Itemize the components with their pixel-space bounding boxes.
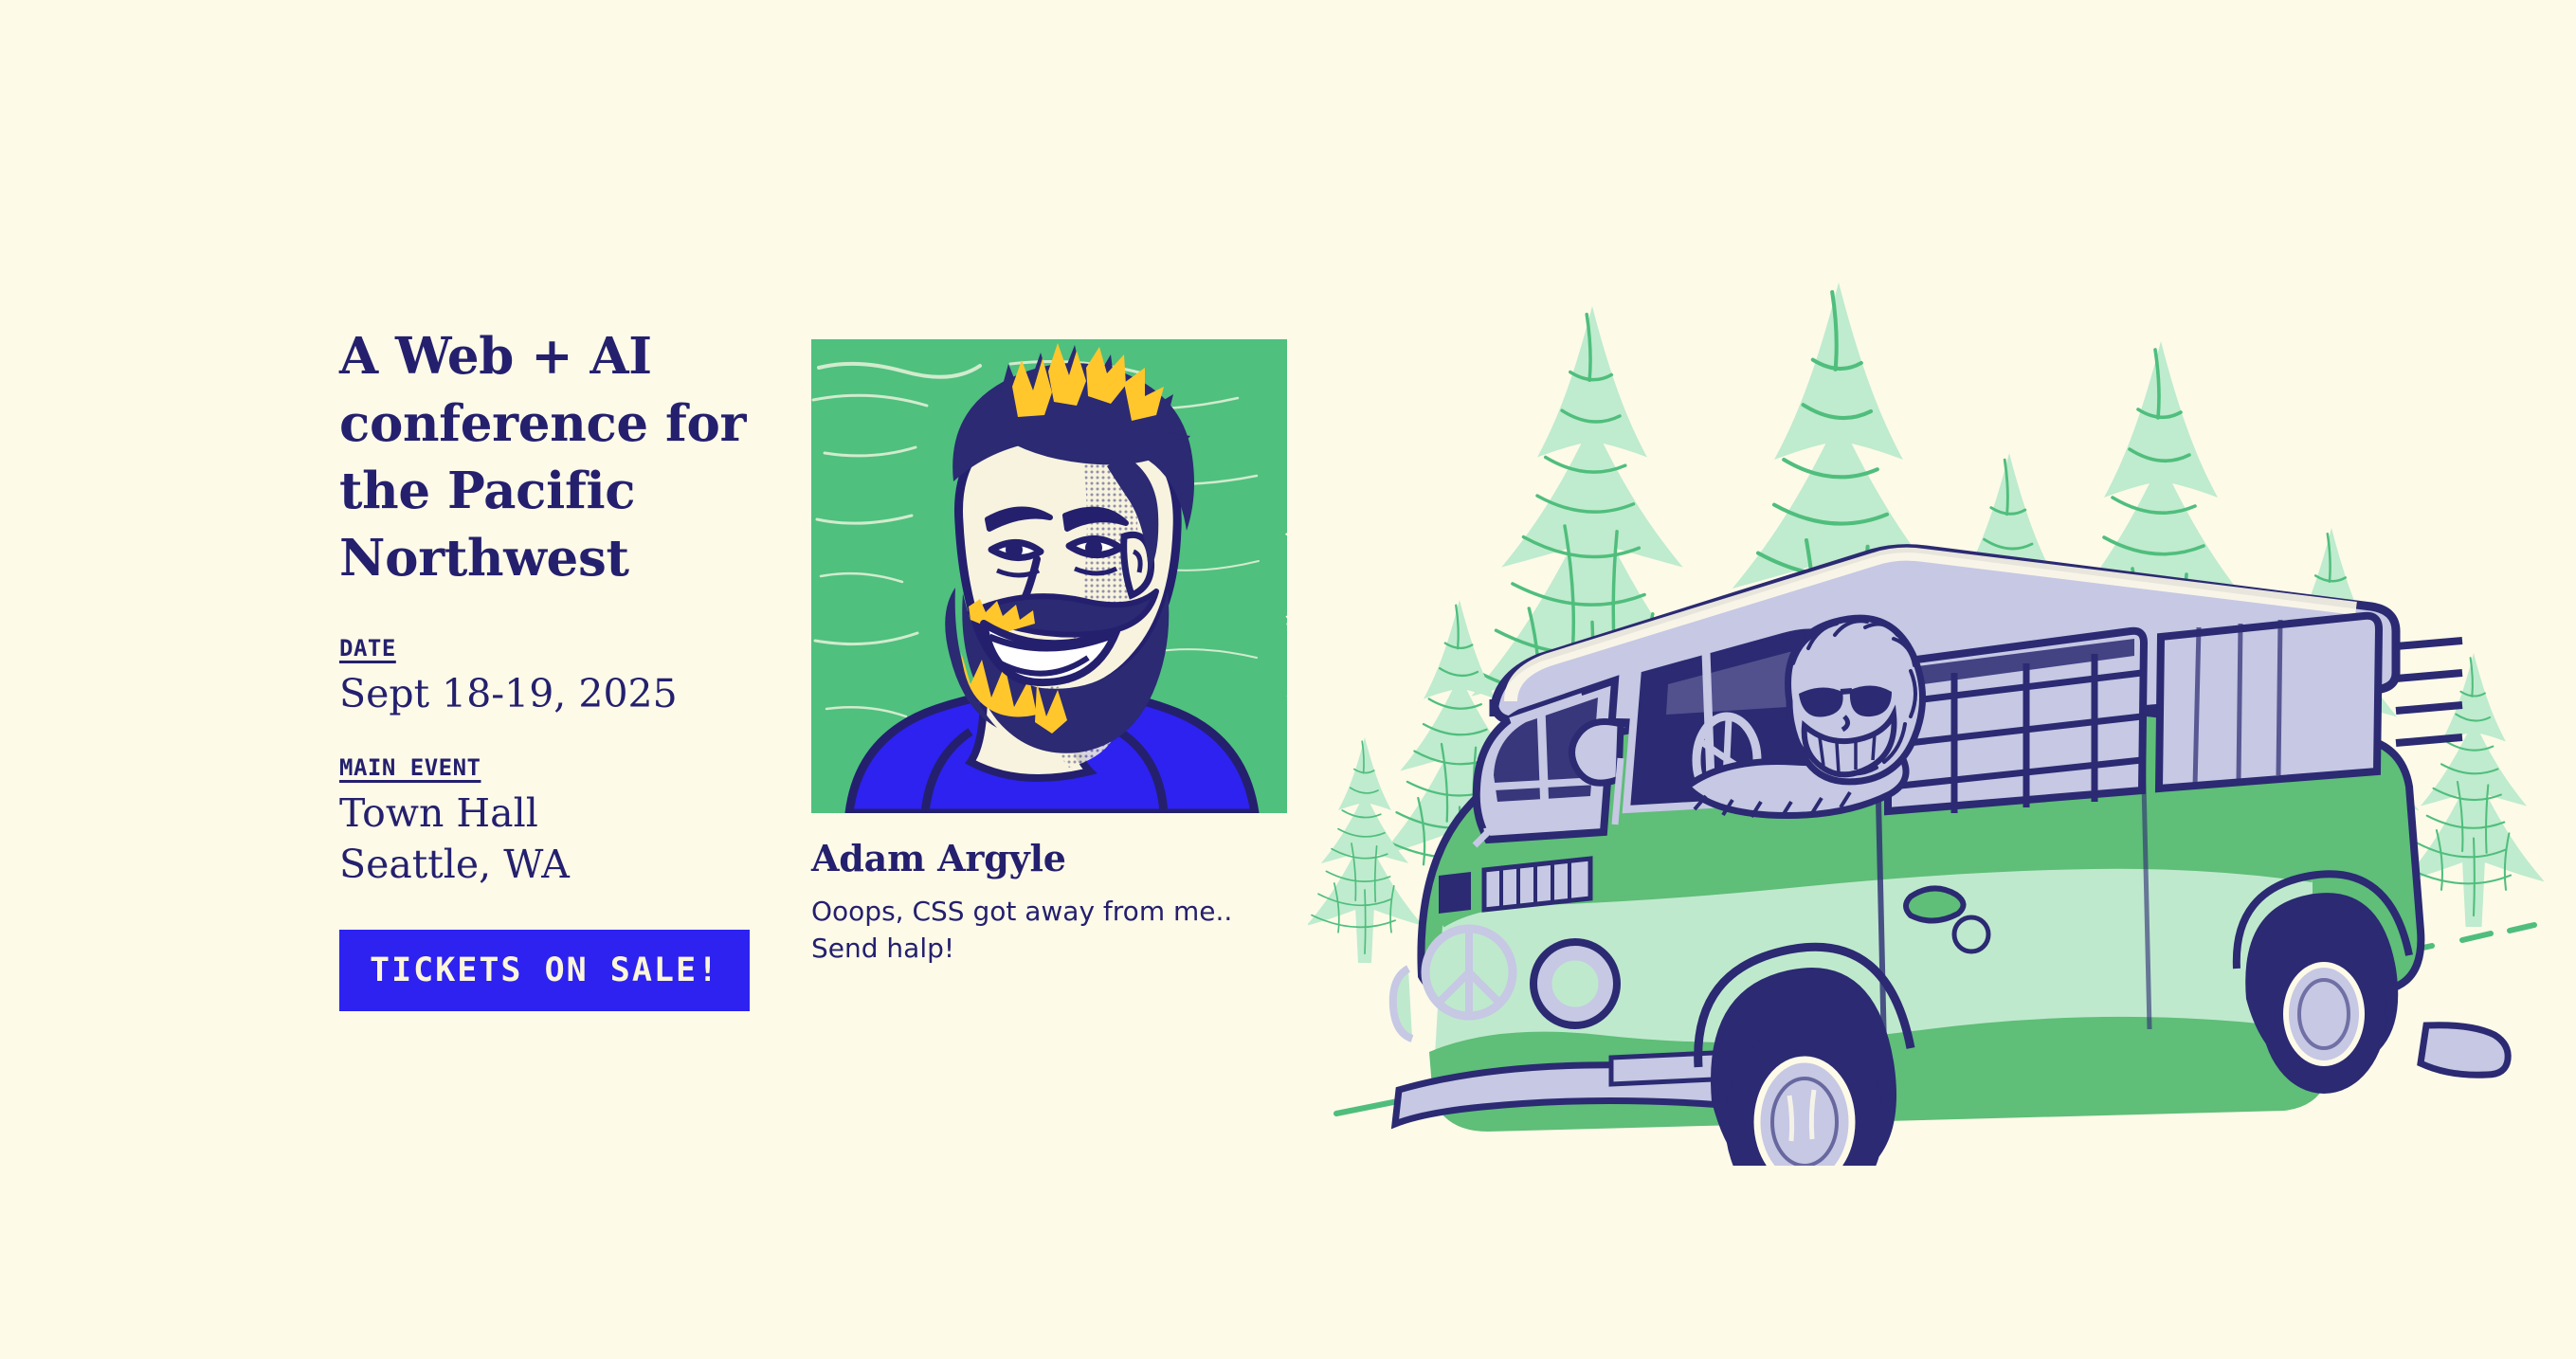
- speaker-name: Adam Argyle: [811, 836, 1289, 881]
- speaker-tagline: Ooops, CSS got away from me.. Send halp!: [811, 893, 1289, 967]
- detail-label-main-event: MAIN EVENT: [339, 753, 481, 782]
- detail-date: DATE Sept 18-19, 2025: [339, 634, 756, 719]
- speaker-portrait-image: [811, 339, 1287, 813]
- event-info-column: A Web + AI conference for the Pacific No…: [339, 323, 756, 1011]
- detail-label-date: DATE: [339, 634, 396, 662]
- detail-value-date: Sept 18-19, 2025: [339, 668, 756, 719]
- camper-van-illustration: [1308, 256, 2559, 1166]
- detail-value-main-event: Town Hall Seattle, WA: [339, 788, 756, 890]
- tickets-on-sale-button[interactable]: TICKETS ON SALE!: [339, 930, 750, 1011]
- hero-section: A Web + AI conference for the Pacific No…: [0, 0, 2576, 1359]
- detail-main-event: MAIN EVENT Town Hall Seattle, WA: [339, 753, 756, 890]
- page-title: A Web + AI conference for the Pacific No…: [339, 323, 747, 592]
- speaker-card[interactable]: Adam Argyle Ooops, CSS got away from me.…: [811, 339, 1289, 967]
